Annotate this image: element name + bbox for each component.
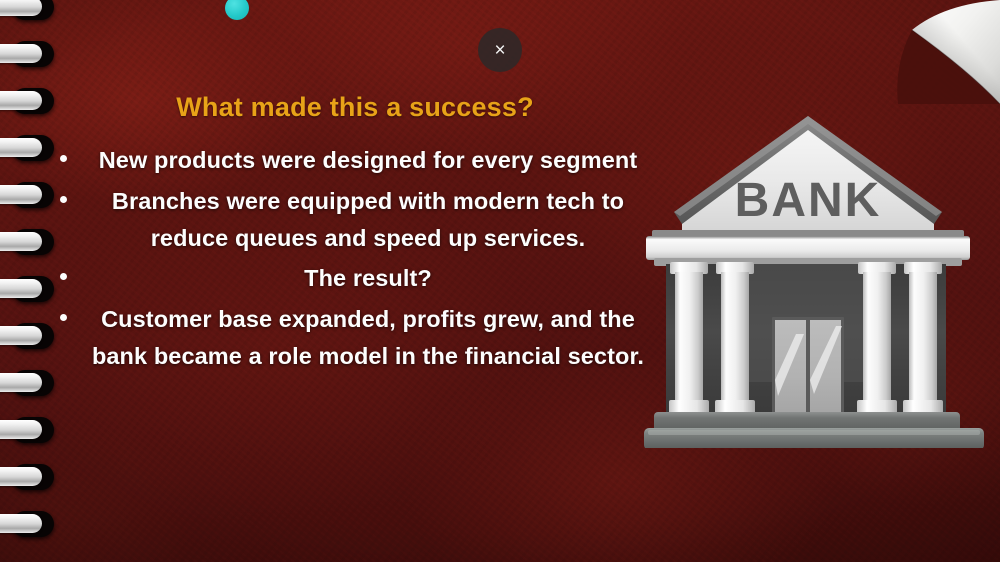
binding-wire (0, 0, 42, 16)
binding-wire (0, 420, 42, 439)
presentation-slide: × What made this a success? New products… (0, 0, 1000, 562)
binding-wire (0, 138, 42, 157)
spiral-ring (0, 417, 54, 443)
binding-wire (0, 467, 42, 486)
binding-wire (0, 326, 42, 345)
bank-sign-text: BANK (735, 174, 882, 227)
bullet-list: New products were designed for every seg… (40, 142, 670, 374)
binding-wire (0, 373, 42, 392)
spiral-ring (0, 511, 54, 537)
binding-wire (0, 514, 42, 533)
close-button[interactable]: × (478, 28, 522, 72)
bullet-marker-icon (60, 273, 67, 280)
spiral-ring (0, 0, 54, 20)
page-curl (872, 0, 1000, 104)
bullet-item: The result? (40, 260, 670, 297)
slide-title: What made this a success? (40, 88, 670, 126)
binding-wire (0, 91, 42, 110)
binding-wire (0, 279, 42, 298)
binding-wire (0, 185, 42, 204)
bullet-marker-icon (60, 155, 67, 162)
bullet-item: Branches were equipped with modern tech … (40, 183, 670, 256)
bullet-text: New products were designed for every seg… (99, 147, 638, 173)
bullet-item: New products were designed for every seg… (40, 142, 670, 179)
bullet-marker-icon (60, 196, 67, 203)
spiral-ring (0, 464, 54, 490)
bullet-text: The result? (304, 265, 432, 291)
close-icon: × (494, 41, 505, 60)
bullet-text: Customer base expanded, profits grew, an… (92, 306, 644, 369)
bullet-marker-icon (60, 314, 67, 321)
bullet-item: Customer base expanded, profits grew, an… (40, 301, 670, 374)
slide-content: What made this a success? New products w… (40, 88, 670, 378)
spiral-ring (0, 41, 54, 67)
binding-wire (0, 232, 42, 251)
bank-building-icon: BANK (636, 112, 996, 448)
bullet-text: Branches were equipped with modern tech … (112, 188, 624, 251)
binding-wire (0, 44, 42, 63)
